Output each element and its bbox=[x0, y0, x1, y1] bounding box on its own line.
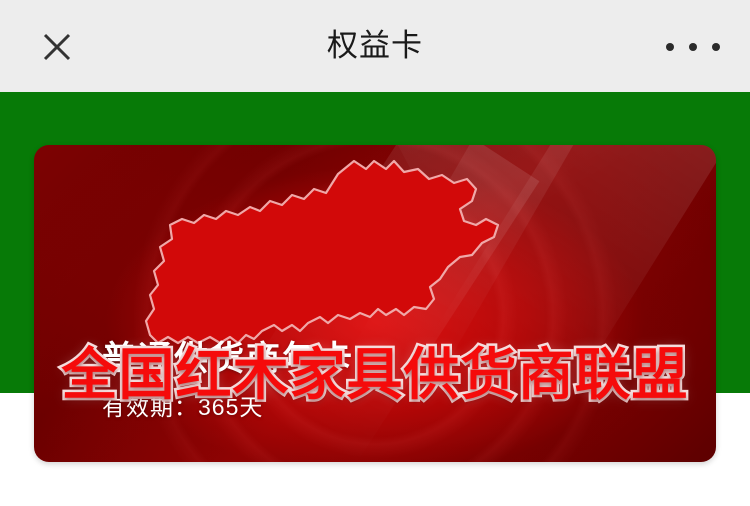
membership-card-page: 权益卡 普通供货商年卡 有效期：365天 全国红木家具供货商联盟 bbox=[0, 0, 750, 506]
more-dot bbox=[666, 43, 674, 51]
membership-card[interactable]: 普通供货商年卡 有效期：365天 bbox=[34, 145, 716, 462]
more-dot bbox=[712, 43, 720, 51]
alliance-banner-text: 全国红木家具供货商联盟 bbox=[34, 346, 716, 405]
page-title: 权益卡 bbox=[0, 0, 750, 92]
more-dot bbox=[689, 43, 697, 51]
more-horizontal-icon[interactable] bbox=[666, 36, 720, 58]
navbar: 权益卡 bbox=[0, 0, 750, 92]
